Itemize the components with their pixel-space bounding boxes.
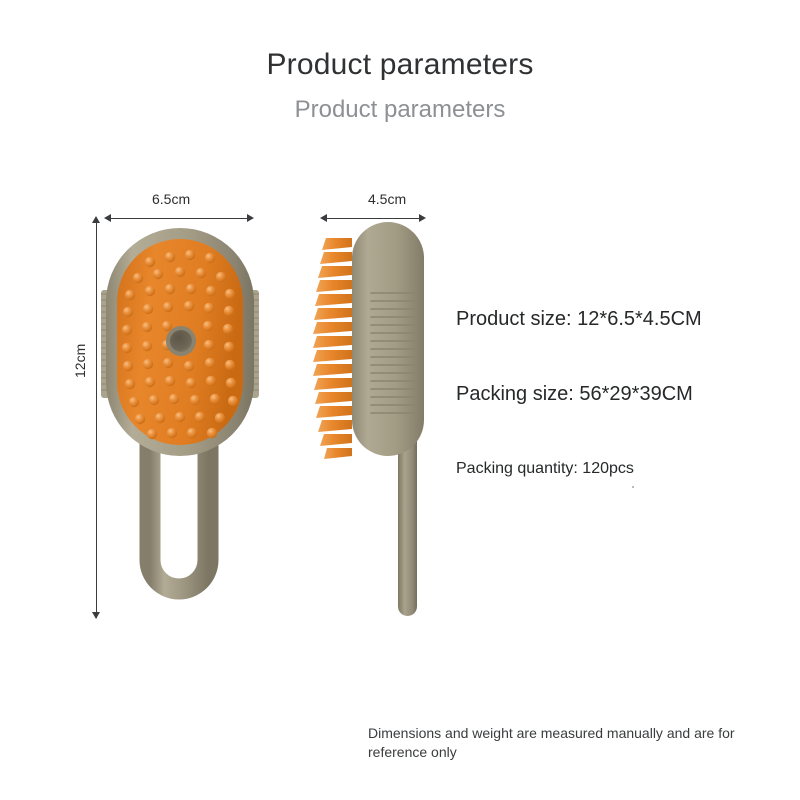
spec-product-size: Product size: 12*6.5*4.5CM bbox=[456, 308, 702, 331]
arrowhead-right-side-width bbox=[419, 214, 426, 222]
dimension-label-height: 12cm bbox=[72, 344, 88, 378]
dimension-label-side-width: 4.5cm bbox=[368, 191, 406, 207]
spec-packing-quantity: Packing quantity: 120pcs bbox=[456, 460, 634, 478]
front-view-group bbox=[101, 228, 259, 589]
arrowhead-left-front-width bbox=[104, 214, 111, 222]
spec-packing-size: Packing size: 56*29*39CM bbox=[456, 383, 693, 406]
product-parameters-page: Product parameters Product parameters bbox=[0, 0, 800, 800]
arrowhead-bottom-height bbox=[92, 612, 100, 619]
dimension-line-front-width bbox=[110, 218, 248, 219]
side-bristles bbox=[313, 238, 352, 459]
side-view-group bbox=[313, 222, 424, 616]
dimension-line-height bbox=[96, 222, 97, 618]
disclaimer-text: Dimensions and weight are measured manua… bbox=[368, 724, 778, 762]
arrowhead-left-side-width bbox=[320, 214, 327, 222]
arrowhead-top-height bbox=[92, 216, 100, 223]
arrowhead-right-front-width bbox=[247, 214, 254, 222]
dimension-label-front-width: 6.5cm bbox=[152, 191, 190, 207]
spec-dot-artifact bbox=[632, 486, 634, 488]
front-nozzle-hole bbox=[170, 330, 192, 352]
dimension-line-side-width bbox=[326, 218, 420, 219]
side-body-shell bbox=[352, 222, 424, 456]
